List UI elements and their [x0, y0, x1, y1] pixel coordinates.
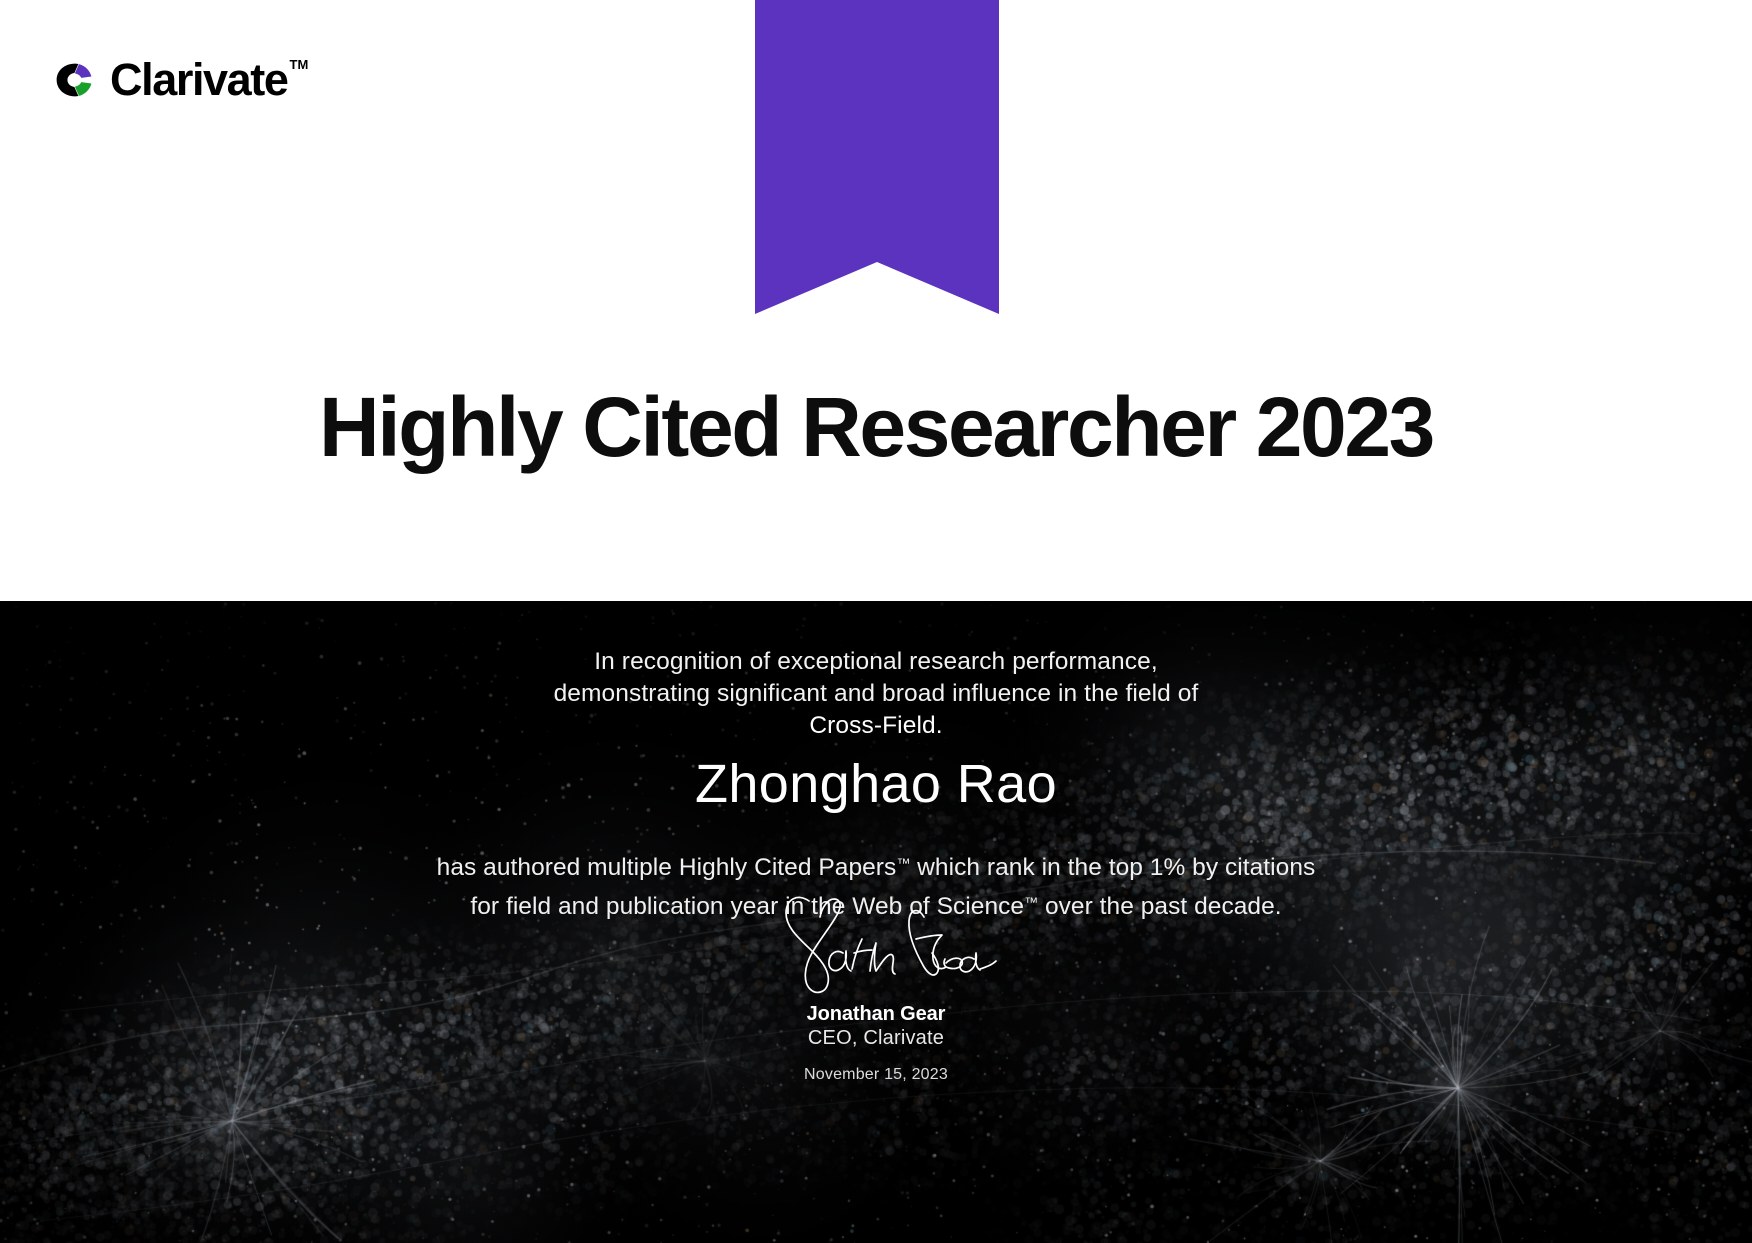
trademark-symbol: TM	[290, 56, 309, 74]
brand-name: Clarivate	[110, 56, 288, 104]
certificate-header-area: Clarivate TM Highly Cited Researcher 202…	[0, 0, 1752, 601]
description-1b: which rank in the top 1% by citations	[910, 854, 1315, 881]
page-title: Highly Cited Researcher 2023	[0, 379, 1752, 475]
clarivate-logo: Clarivate TM	[48, 52, 308, 108]
recognition-line-2: demonstrating significant and broad infl…	[0, 678, 1752, 710]
signatory-name: Jonathan Gear	[0, 1001, 1752, 1027]
issue-date: November 15, 2023	[0, 1064, 1752, 1086]
certificate: Clarivate TM Highly Cited Researcher 202…	[0, 0, 1752, 1243]
trademark-icon-wos: ™	[1024, 894, 1038, 910]
clarivate-logo-mark-icon	[48, 56, 96, 104]
recipient-name: Zhonghao Rao	[0, 753, 1752, 815]
research-field: Cross-Field.	[0, 710, 1752, 742]
signatory-role: CEO, Clarivate	[0, 1025, 1752, 1051]
recognition-text: In recognition of exceptional research p…	[0, 646, 1752, 742]
trademark-icon-papers: ™	[896, 855, 910, 871]
award-ribbon-icon	[755, 0, 999, 314]
clarivate-wordmark: Clarivate TM	[110, 56, 308, 104]
handwritten-signature-icon	[746, 881, 1006, 1001]
recognition-line-1: In recognition of exceptional research p…	[0, 646, 1752, 678]
award-description-line-1: has authored multiple Highly Cited Paper…	[0, 846, 1752, 885]
description-2b: over the past decade.	[1038, 893, 1282, 920]
certificate-body-area: In recognition of exceptional research p…	[0, 601, 1752, 1243]
description-1a: has authored multiple Highly Cited Paper…	[437, 854, 897, 881]
